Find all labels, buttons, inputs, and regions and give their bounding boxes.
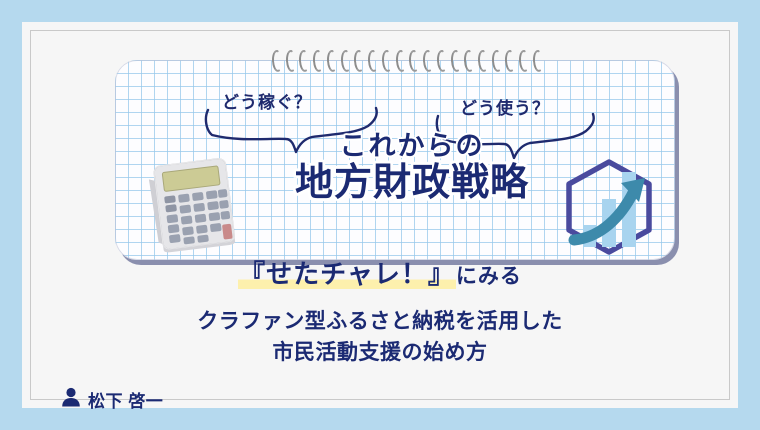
subtitle-tail: にみる xyxy=(456,265,522,288)
spiral-ring xyxy=(381,50,392,73)
subtitle-detail-line-1: クラファン型ふるさと納税を活用した xyxy=(0,306,760,338)
person-icon xyxy=(60,386,82,413)
subtitle-main-line: 『せたチャレ！』にみる xyxy=(0,258,760,292)
author-credit: 松下 啓一 xyxy=(60,386,163,413)
spiral-ring xyxy=(285,50,296,73)
spiral-ring xyxy=(422,50,433,73)
spiral-ring xyxy=(409,50,420,73)
spiral-ring xyxy=(312,50,323,73)
spiral-ring xyxy=(464,50,475,73)
spiral-ring xyxy=(505,50,516,73)
subtitle-block: 『せたチャレ！』にみる クラファン型ふるさと納税を活用した 市民活動支援の始め方 xyxy=(0,258,760,369)
hexagon-bar-chart-growth-icon xyxy=(559,155,659,260)
notebook-title: これからの 地方財政戦略 xyxy=(262,132,562,205)
slide-canvas: どう稼ぐ？ どう使う？ これからの 地方財政戦略 松下 啓一 xyxy=(0,0,760,430)
title-line-1: これからの xyxy=(262,132,562,160)
spiral-ring xyxy=(340,50,351,73)
spiral-ring xyxy=(367,50,378,73)
spiral-ring xyxy=(326,50,337,73)
spiral-ring xyxy=(532,50,543,73)
spiral-ring xyxy=(299,50,310,73)
spiral-ring xyxy=(491,50,502,73)
subtitle-detail-lines: クラファン型ふるさと納税を活用した 市民活動支援の始め方 xyxy=(0,306,760,369)
spiral-ring xyxy=(395,50,406,73)
spiral-ring xyxy=(450,50,461,73)
subtitle-detail-line-2: 市民活動支援の始め方 xyxy=(0,337,760,369)
spiral-ring xyxy=(354,50,365,73)
spiral-ring xyxy=(518,50,529,73)
spiral-ring xyxy=(477,50,488,73)
spiral-ring xyxy=(436,50,447,73)
notebook-spiral-binding xyxy=(272,50,542,76)
author-name: 松下 啓一 xyxy=(88,387,163,412)
subtitle-highlighted: 『せたチャレ！』 xyxy=(238,259,456,289)
title-line-2: 地方財政戦略 xyxy=(262,162,562,205)
spiral-ring xyxy=(271,50,282,73)
calculator-icon xyxy=(140,150,248,254)
